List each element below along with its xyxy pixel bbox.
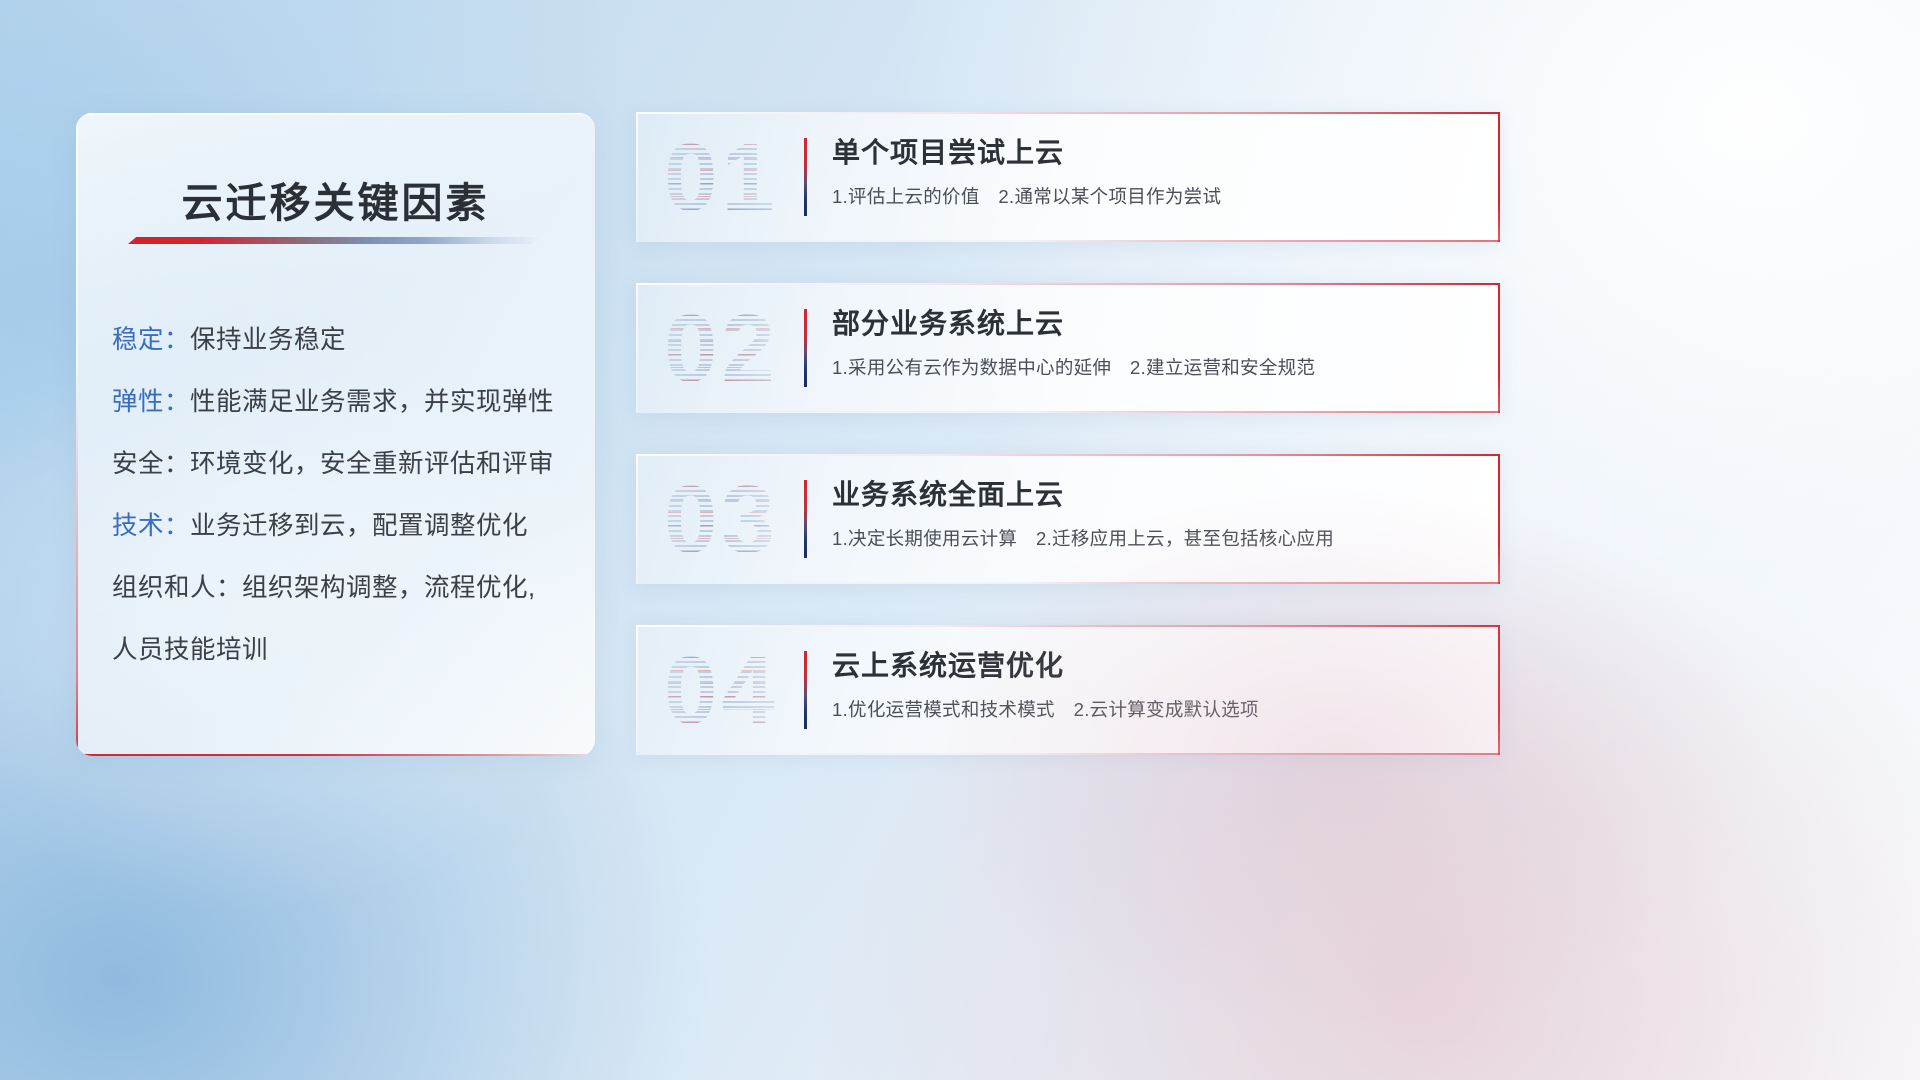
card-top-accent — [636, 283, 1500, 285]
card-left-edge — [636, 112, 638, 242]
list-item-label: 安全： — [112, 450, 190, 478]
list-item-label: 技术： — [112, 512, 190, 540]
card-bottom-edge — [636, 753, 1500, 755]
card-bottom-edge — [636, 411, 1500, 413]
card-top-accent — [636, 454, 1500, 456]
list-item-text: 人员技能培训 — [112, 636, 268, 664]
stage-card-body: 单个项目尝试上云 1.评估上云的价值 2.通常以某个项目作为尝试 — [832, 134, 1476, 210]
stage-card-body: 部分业务系统上云 1.采用公有云作为数据中心的延伸 2.建立运营和安全规范 — [832, 305, 1476, 381]
slide-canvas: 云迁移关键因素 稳定：保持业务稳定 弹性：性能满足业务需求，并实现弹性 安全：环… — [0, 0, 1920, 1080]
card-right-accent — [1498, 454, 1500, 584]
stage-number-watermark: 04 — [664, 631, 854, 751]
card-left-edge — [636, 625, 638, 755]
card-divider-bar — [804, 480, 807, 558]
panel-title: 云迁移关键因素 — [76, 169, 595, 229]
stage-card-subtitle: 1.评估上云的价值 2.通常以某个项目作为尝试 — [832, 184, 1476, 210]
key-factors-list: 稳定：保持业务稳定 弹性：性能满足业务需求，并实现弹性 安全：环境变化，安全重新… — [112, 309, 571, 681]
card-divider-bar — [804, 138, 807, 216]
stage-card-list: 01 01 单个项目尝试上云 1.评估上云的价值 2.通常以某个项目作为尝试 0… — [636, 112, 1500, 796]
card-bottom-edge — [636, 582, 1500, 584]
stage-card-body: 云上系统运营优化 1.优化运营模式和技术模式 2.云计算变成默认选项 — [832, 647, 1476, 723]
stage-card[interactable]: 01 01 单个项目尝试上云 1.评估上云的价值 2.通常以某个项目作为尝试 — [636, 112, 1500, 242]
stage-card-title: 云上系统运营优化 — [832, 647, 1476, 685]
panel-bottom-accent — [76, 754, 595, 756]
stage-number-watermark: 03 — [664, 460, 854, 580]
card-top-accent — [636, 625, 1500, 627]
list-item-text: 保持业务稳定 — [190, 326, 346, 354]
card-left-edge — [636, 283, 638, 413]
title-underline-gradient — [128, 237, 540, 244]
stage-card[interactable]: 02 02 部分业务系统上云 1.采用公有云作为数据中心的延伸 2.建立运营和安… — [636, 283, 1500, 413]
stage-card-title: 单个项目尝试上云 — [832, 134, 1476, 172]
stage-card-subtitle: 1.决定长期使用云计算 2.迁移应用上云，甚至包括核心应用 — [832, 526, 1476, 552]
card-bottom-edge — [636, 240, 1500, 242]
card-right-accent — [1498, 625, 1500, 755]
list-item-text: 性能满足业务需求，并实现弹性 — [190, 388, 554, 416]
stage-number-watermark: 01 — [664, 118, 854, 238]
panel-top-edge — [76, 113, 595, 115]
list-item: 稳定：保持业务稳定 — [112, 309, 571, 371]
list-item-label: 组织和人： — [112, 574, 242, 602]
card-right-accent — [1498, 283, 1500, 413]
stage-card[interactable]: 03 03 业务系统全面上云 1.决定长期使用云计算 2.迁移应用上云，甚至包括… — [636, 454, 1500, 584]
stage-card-body: 业务系统全面上云 1.决定长期使用云计算 2.迁移应用上云，甚至包括核心应用 — [832, 476, 1476, 552]
list-item-label: 稳定： — [112, 326, 190, 354]
stage-card-subtitle: 1.采用公有云作为数据中心的延伸 2.建立运营和安全规范 — [832, 355, 1476, 381]
card-right-accent — [1498, 112, 1500, 242]
list-item: 人员技能培训 — [112, 619, 571, 681]
card-left-edge — [636, 454, 638, 584]
card-divider-bar — [804, 651, 807, 729]
list-item-text: 组织架构调整，流程优化, — [242, 574, 536, 602]
stage-card-subtitle: 1.优化运营模式和技术模式 2.云计算变成默认选项 — [832, 697, 1476, 723]
key-factors-panel: 云迁移关键因素 稳定：保持业务稳定 弹性：性能满足业务需求，并实现弹性 安全：环… — [76, 113, 595, 756]
list-item-label: 弹性： — [112, 388, 190, 416]
list-item: 技术：业务迁移到云，配置调整优化 — [112, 495, 571, 557]
stage-card-title: 部分业务系统上云 — [832, 305, 1476, 343]
card-top-accent — [636, 112, 1500, 114]
stage-number-watermark: 02 — [664, 289, 854, 409]
list-item-text: 业务迁移到云，配置调整优化 — [190, 512, 528, 540]
list-item: 弹性：性能满足业务需求，并实现弹性 — [112, 371, 571, 433]
list-item: 组织和人：组织架构调整，流程优化, — [112, 557, 571, 619]
list-item-text: 环境变化，安全重新评估和评审 — [190, 450, 554, 478]
stage-card[interactable]: 04 04 云上系统运营优化 1.优化运营模式和技术模式 2.云计算变成默认选项 — [636, 625, 1500, 755]
card-divider-bar — [804, 309, 807, 387]
list-item: 安全：环境变化，安全重新评估和评审 — [112, 433, 571, 495]
stage-card-title: 业务系统全面上云 — [832, 476, 1476, 514]
